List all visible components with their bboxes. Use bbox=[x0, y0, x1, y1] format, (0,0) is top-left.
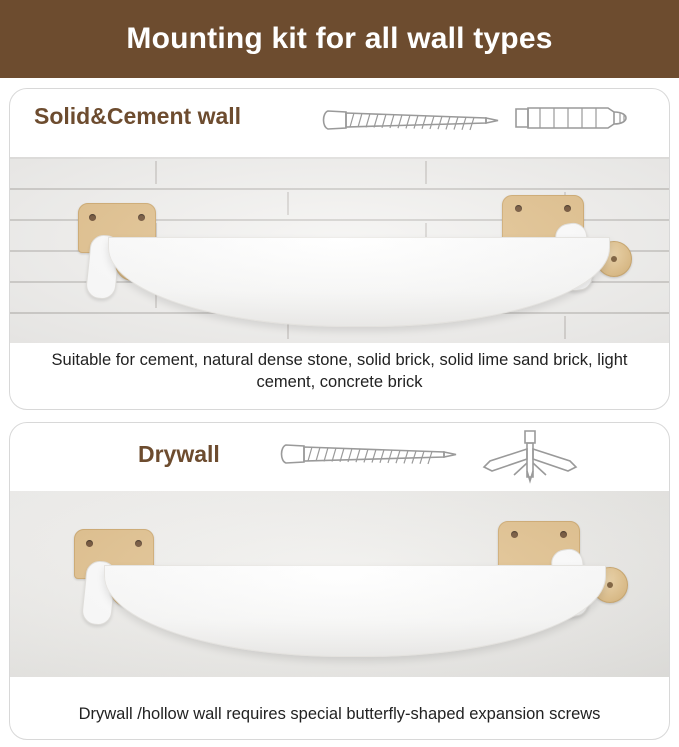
photo-solid-cement-wall bbox=[10, 157, 669, 343]
page-title: Mounting kit for all wall types bbox=[126, 22, 552, 56]
caption-solid-cement-wall: Suitable for cement, natural dense stone… bbox=[10, 349, 669, 393]
product-infographic: Mounting kit for all wall types Solid&Ce… bbox=[0, 0, 679, 747]
card-solid-cement-wall: Solid&Cement wall bbox=[9, 88, 670, 410]
card-label-drywall: Drywall bbox=[138, 441, 220, 468]
wood-screw-icon bbox=[320, 97, 500, 148]
photo-vignette bbox=[10, 157, 669, 343]
card-header-solid: Solid&Cement wall bbox=[10, 89, 669, 157]
caption-drywall: Drywall /hollow wall requires special bu… bbox=[10, 703, 669, 725]
photo-drywall bbox=[10, 491, 669, 677]
photo-vignette bbox=[10, 491, 669, 677]
card-label-solid: Solid&Cement wall bbox=[34, 103, 241, 130]
butterfly-anchor-icon bbox=[470, 427, 590, 490]
card-header-drywall: Drywall bbox=[10, 423, 669, 491]
wood-screw-icon bbox=[278, 431, 458, 482]
header-banner: Mounting kit for all wall types bbox=[0, 0, 679, 78]
cement-anchor-icon bbox=[510, 93, 635, 148]
card-drywall: Drywall bbox=[9, 422, 670, 740]
